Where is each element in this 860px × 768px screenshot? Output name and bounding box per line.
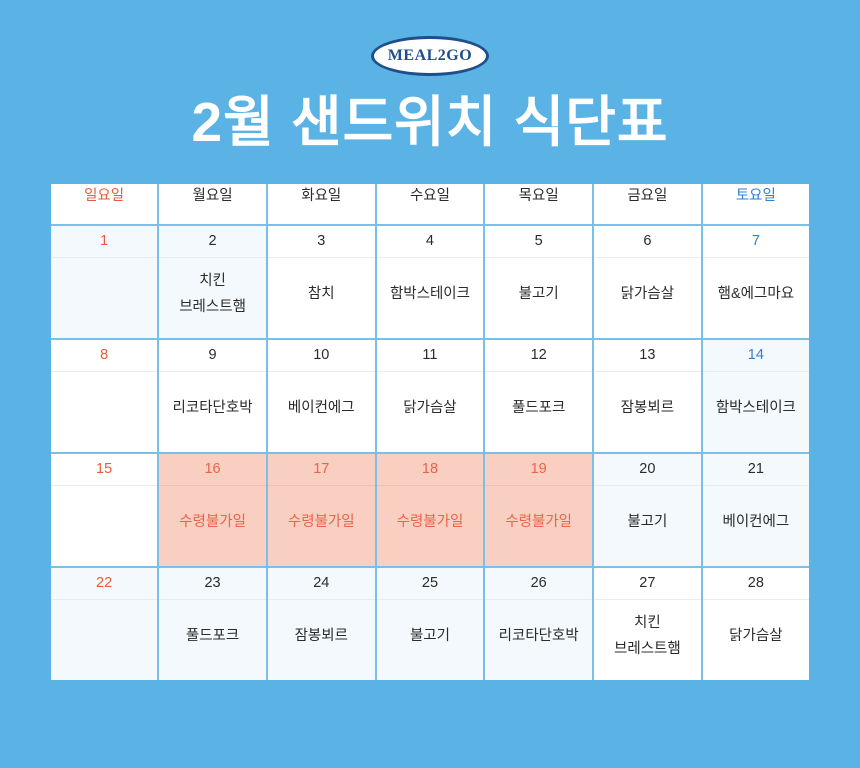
menu-text-line: 참치 <box>308 282 335 307</box>
menu-item <box>51 600 157 674</box>
unavailable-label: 수령불가일 <box>397 510 464 535</box>
calendar-day-cell-9[interactable]: 9리코타단호박 <box>158 339 267 453</box>
meal-calendar-page: MEAL2GO 2월 샌드위치 식단표 일요일월요일화요일수요일목요일금요일토요… <box>0 0 860 768</box>
calendar-day-cell-13[interactable]: 13잠봉뵈르 <box>593 339 702 453</box>
day-number: 25 <box>377 568 484 600</box>
calendar-day-cell-8[interactable]: 8 <box>50 339 159 453</box>
day-number: 24 <box>268 568 375 600</box>
calendar-day-cell-22[interactable]: 22 <box>50 567 159 682</box>
menu-item: 리코타단호박 <box>159 372 266 446</box>
day-number: 14 <box>703 340 809 372</box>
day-number: 28 <box>703 568 809 600</box>
calendar-week-row: 89리코타단호박10베이컨에그11닭가슴살12풀드포크13잠봉뵈르14함박스테이… <box>50 339 811 453</box>
calendar-day-cell-12[interactable]: 12풀드포크 <box>484 339 593 453</box>
calendar-day-cell-7[interactable]: 7햄&에그마요 <box>702 225 811 339</box>
menu-text-line: 브레스트햄 <box>179 295 246 320</box>
menu-item: 치킨브레스트햄 <box>594 600 701 674</box>
menu-text-line: 베이컨에그 <box>723 510 790 535</box>
day-of-week-header-3: 수요일 <box>376 182 485 225</box>
menu-item: 치킨브레스트햄 <box>159 258 266 332</box>
calendar-day-cell-11[interactable]: 11닭가슴살 <box>376 339 485 453</box>
menu-item: 불고기 <box>594 486 701 560</box>
menu-item: 리코타단호박 <box>485 600 592 674</box>
menu-text-line: 잠봉뵈르 <box>621 396 674 421</box>
menu-item: 닭가슴살 <box>377 372 484 446</box>
page-title: 2월 샌드위치 식단표 <box>0 94 860 152</box>
menu-item: 함박스테이크 <box>377 258 484 332</box>
menu-item: 잠봉뵈르 <box>594 372 701 446</box>
day-number: 16 <box>159 454 266 486</box>
day-number: 17 <box>268 454 375 486</box>
calendar-day-cell-15[interactable]: 15 <box>50 453 159 567</box>
calendar-day-cell-25[interactable]: 25불고기 <box>376 567 485 682</box>
day-number: 3 <box>268 226 375 258</box>
day-number: 11 <box>377 340 484 372</box>
menu-item: 풀드포크 <box>159 600 266 674</box>
calendar-day-cell-24[interactable]: 24잠봉뵈르 <box>267 567 376 682</box>
menu-item <box>51 258 157 332</box>
calendar-day-cell-6[interactable]: 6닭가슴살 <box>593 225 702 339</box>
menu-text-line: 불고기 <box>410 624 450 649</box>
day-number: 2 <box>159 226 266 258</box>
menu-item: 닭가슴살 <box>594 258 701 332</box>
calendar-day-cell-21[interactable]: 21베이컨에그 <box>702 453 811 567</box>
calendar-day-cell-10[interactable]: 10베이컨에그 <box>267 339 376 453</box>
day-of-week-header-6: 토요일 <box>702 182 811 225</box>
calendar-day-cell-26[interactable]: 26리코타단호박 <box>484 567 593 682</box>
unavailable-label: 수령불가일 <box>288 510 355 535</box>
menu-text-line: 닭가슴살 <box>729 624 782 649</box>
menu-text-line: 브레스트햄 <box>614 637 681 662</box>
calendar-week-row: 1516수령불가일17수령불가일18수령불가일19수령불가일20불고기21베이컨… <box>50 453 811 567</box>
menu-text-line: 풀드포크 <box>186 624 239 649</box>
day-number: 8 <box>51 340 157 372</box>
day-number: 12 <box>485 340 592 372</box>
meal2go-logo: MEAL2GO <box>371 36 489 76</box>
menu-text-line: 치킨 <box>634 611 661 636</box>
menu-text-line: 햄&에그마요 <box>718 282 794 307</box>
calendar-day-cell-27[interactable]: 27치킨브레스트햄 <box>593 567 702 682</box>
calendar-day-cell-23[interactable]: 23풀드포크 <box>158 567 267 682</box>
day-number: 1 <box>51 226 157 258</box>
menu-text-line: 리코타단호박 <box>173 396 253 421</box>
unavailable-notice: 수령불가일 <box>485 486 592 560</box>
day-number: 21 <box>703 454 809 486</box>
day-number: 19 <box>485 454 592 486</box>
unavailable-label: 수령불가일 <box>505 510 572 535</box>
calendar-day-cell-16[interactable]: 16수령불가일 <box>158 453 267 567</box>
calendar-day-cell-4[interactable]: 4함박스테이크 <box>376 225 485 339</box>
calendar-day-cell-28[interactable]: 28닭가슴살 <box>702 567 811 682</box>
day-of-week-header-4: 목요일 <box>484 182 593 225</box>
menu-item: 닭가슴살 <box>703 600 809 674</box>
day-number: 22 <box>51 568 157 600</box>
day-number: 13 <box>594 340 701 372</box>
calendar-body: 12치킨브레스트햄3참치4함박스테이크5불고기6닭가슴살7햄&에그마요89리코타… <box>50 225 811 682</box>
unavailable-notice: 수령불가일 <box>159 486 266 560</box>
menu-text-line: 풀드포크 <box>512 396 565 421</box>
day-number: 4 <box>377 226 484 258</box>
logo-wordmark: MEAL2GO <box>388 48 472 64</box>
day-number: 9 <box>159 340 266 372</box>
unavailable-notice: 수령불가일 <box>377 486 484 560</box>
day-number: 26 <box>485 568 592 600</box>
day-number: 23 <box>159 568 266 600</box>
calendar-day-cell-20[interactable]: 20불고기 <box>593 453 702 567</box>
calendar-header: 일요일월요일화요일수요일목요일금요일토요일 <box>50 182 811 225</box>
unavailable-label: 수령불가일 <box>179 510 246 535</box>
menu-item: 베이컨에그 <box>268 372 375 446</box>
menu-text-line: 닭가슴살 <box>403 396 456 421</box>
calendar-day-cell-3[interactable]: 3참치 <box>267 225 376 339</box>
menu-text-line: 닭가슴살 <box>621 282 674 307</box>
calendar-day-cell-14[interactable]: 14함박스테이크 <box>702 339 811 453</box>
day-of-week-header-2: 화요일 <box>267 182 376 225</box>
day-number: 15 <box>51 454 157 486</box>
menu-text-line: 베이컨에그 <box>288 396 355 421</box>
menu-item: 잠봉뵈르 <box>268 600 375 674</box>
day-number: 20 <box>594 454 701 486</box>
day-of-week-row: 일요일월요일화요일수요일목요일금요일토요일 <box>50 182 811 225</box>
calendar-day-cell-5[interactable]: 5불고기 <box>484 225 593 339</box>
menu-item: 풀드포크 <box>485 372 592 446</box>
menu-text-line: 불고기 <box>627 510 667 535</box>
calendar-day-cell-1[interactable]: 1 <box>50 225 159 339</box>
menu-item: 불고기 <box>377 600 484 674</box>
day-number: 27 <box>594 568 701 600</box>
menu-item: 베이컨에그 <box>703 486 809 560</box>
menu-item: 참치 <box>268 258 375 332</box>
day-number: 10 <box>268 340 375 372</box>
day-of-week-header-1: 월요일 <box>158 182 267 225</box>
menu-text-line: 함박스테이크 <box>716 396 796 421</box>
calendar-day-cell-18[interactable]: 18수령불가일 <box>376 453 485 567</box>
calendar-day-cell-17[interactable]: 17수령불가일 <box>267 453 376 567</box>
brand-header: MEAL2GO <box>0 0 860 76</box>
day-number: 5 <box>485 226 592 258</box>
menu-item: 햄&에그마요 <box>703 258 809 332</box>
menu-text-line: 리코타단호박 <box>499 624 579 649</box>
calendar-week-row: 2223풀드포크24잠봉뵈르25불고기26리코타단호박27치킨브레스트햄28닭가… <box>50 567 811 682</box>
calendar-day-cell-19[interactable]: 19수령불가일 <box>484 453 593 567</box>
day-of-week-header-5: 금요일 <box>593 182 702 225</box>
menu-text-line: 잠봉뵈르 <box>295 624 348 649</box>
unavailable-notice: 수령불가일 <box>268 486 375 560</box>
menu-text-line: 함박스테이크 <box>390 282 470 307</box>
menu-item: 불고기 <box>485 258 592 332</box>
day-of-week-header-0: 일요일 <box>50 182 159 225</box>
day-number: 7 <box>703 226 809 258</box>
menu-item: 함박스테이크 <box>703 372 809 446</box>
menu-item <box>51 486 157 560</box>
day-number: 6 <box>594 226 701 258</box>
menu-text-line: 치킨 <box>199 269 226 294</box>
menu-item <box>51 372 157 446</box>
menu-text-line: 불고기 <box>519 282 559 307</box>
menu-calendar-table: 일요일월요일화요일수요일목요일금요일토요일 12치킨브레스트햄3참치4함박스테이… <box>48 181 812 683</box>
calendar-day-cell-2[interactable]: 2치킨브레스트햄 <box>158 225 267 339</box>
calendar-week-row: 12치킨브레스트햄3참치4함박스테이크5불고기6닭가슴살7햄&에그마요 <box>50 225 811 339</box>
day-number: 18 <box>377 454 484 486</box>
